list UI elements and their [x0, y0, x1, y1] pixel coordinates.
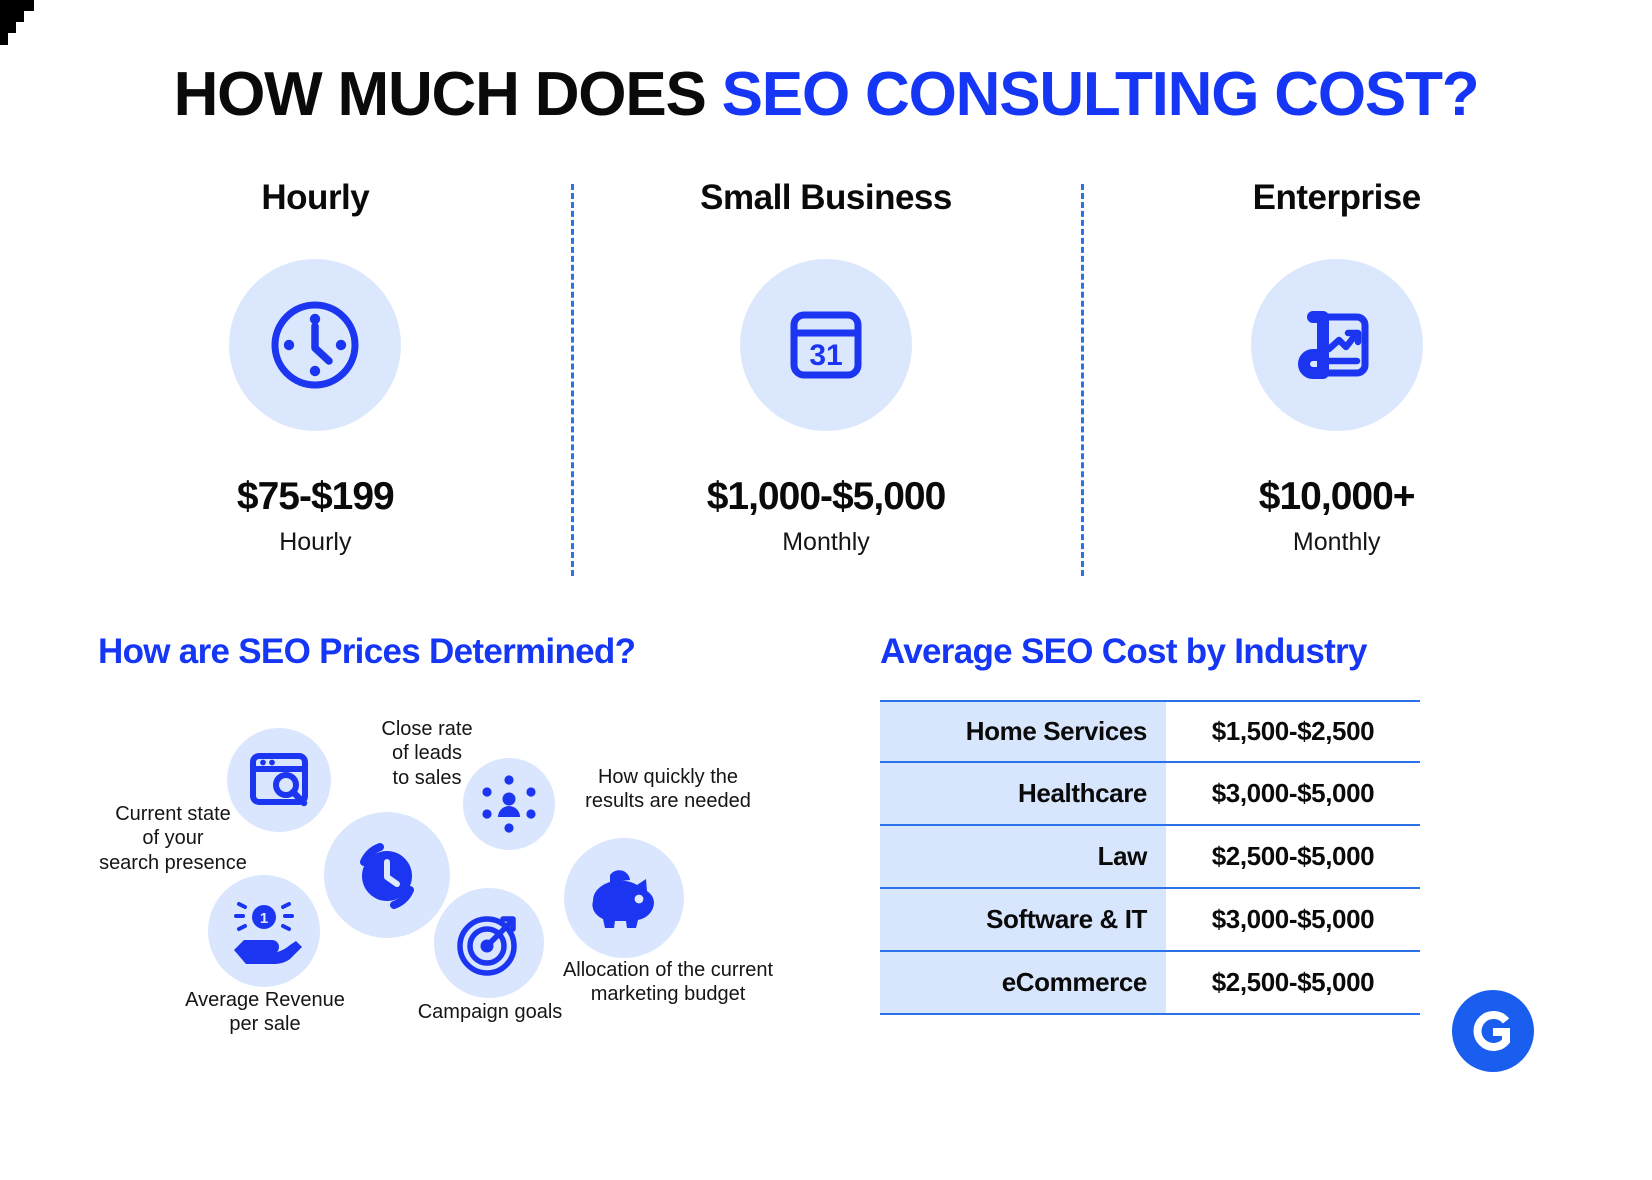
infographic-canvas: HOW MUCH DOES SEO CONSULTING COST? Hourl… — [0, 0, 1652, 1180]
industry-table-heading: Average SEO Cost by Industry — [880, 632, 1367, 672]
tier-divider-1 — [571, 184, 574, 576]
page-title-black: HOW MUCH DOES — [174, 60, 706, 129]
pricing-tiers: Hourly $75-$199 Hourly Small Business — [60, 178, 1592, 578]
corner-artifact — [0, 0, 46, 46]
table-cell-cost: $3,000-$5,000 — [1166, 763, 1420, 824]
table-cell-cost: $2,500-$5,000 — [1166, 952, 1420, 1013]
factor-caption-results-speed: How quickly the results are needed — [553, 765, 783, 814]
table-row: eCommerce $2,500-$5,000 — [880, 952, 1420, 1015]
table-cell-cost: $2,500-$5,000 — [1166, 826, 1420, 887]
factor-bubble-campaign-goals — [434, 888, 544, 998]
tier-period: Monthly — [571, 528, 1082, 557]
piggy-bank-icon — [583, 857, 665, 939]
tier-icon-badge — [1251, 259, 1423, 431]
tier-period: Hourly — [60, 528, 571, 557]
report-chart-icon — [1285, 293, 1389, 397]
tier-divider-2 — [1081, 184, 1084, 576]
tier-title: Hourly — [60, 178, 571, 218]
table-cell-industry: Law — [880, 826, 1166, 887]
tier-price: $1,000-$5,000 — [571, 475, 1082, 519]
tier-period: Monthly — [1081, 528, 1592, 557]
table-cell-industry: eCommerce — [880, 952, 1166, 1013]
calendar-day-label: 31 — [809, 339, 842, 372]
table-cell-cost: $3,000-$5,000 — [1166, 889, 1420, 950]
clock-arcs-icon — [344, 832, 430, 918]
factor-bubble-results-speed — [463, 758, 555, 850]
tier-icon-badge: 31 — [740, 259, 912, 431]
factors-heading: How are SEO Prices Determined? — [98, 632, 635, 672]
table-row: Law $2,500-$5,000 — [880, 826, 1420, 889]
page-title: HOW MUCH DOES SEO CONSULTING COST? — [0, 62, 1652, 127]
tier-title: Small Business — [571, 178, 1082, 218]
tier-price: $10,000+ — [1081, 475, 1592, 519]
factor-caption-avg-revenue: Average Revenue per sale — [155, 988, 375, 1037]
factor-caption-budget: Allocation of the current marketing budg… — [538, 958, 798, 1007]
table-cell-industry: Software & IT — [880, 889, 1166, 950]
table-row: Healthcare $3,000-$5,000 — [880, 763, 1420, 826]
pricing-factors-cluster: Current state of your search presence Cl… — [60, 700, 860, 1120]
table-cell-cost: $1,500-$2,500 — [1166, 702, 1420, 761]
brand-logo[interactable] — [1452, 990, 1534, 1072]
industry-cost-table: Home Services $1,500-$2,500 Healthcare $… — [880, 700, 1420, 1015]
tier-card-small-business: Small Business 31 $1,000-$5,000 Monthly — [571, 178, 1082, 578]
table-row: Software & IT $3,000-$5,000 — [880, 889, 1420, 952]
network-person-icon — [478, 773, 540, 835]
target-arrow-icon — [453, 907, 525, 979]
logo-c-icon — [1468, 1006, 1518, 1056]
table-cell-industry: Home Services — [880, 702, 1166, 761]
tier-title: Enterprise — [1081, 178, 1592, 218]
tier-card-hourly: Hourly $75-$199 Hourly — [60, 178, 571, 578]
tier-card-enterprise: Enterprise $10,000+ Monthly — [1081, 178, 1592, 578]
tier-price: $75-$199 — [60, 475, 571, 519]
svg-text:1: 1 — [260, 910, 268, 927]
factor-bubble-budget — [564, 838, 684, 958]
hand-coin-icon: 1 — [226, 893, 302, 969]
factor-caption-search-presence: Current state of your search presence — [73, 802, 273, 875]
factor-bubble-close-rate — [324, 812, 450, 938]
calendar-icon: 31 — [774, 293, 878, 397]
page-title-blue: SEO CONSULTING COST? — [722, 60, 1479, 129]
clock-icon — [263, 293, 367, 397]
factor-bubble-avg-revenue: 1 — [208, 875, 320, 987]
table-row: Home Services $1,500-$2,500 — [880, 700, 1420, 763]
tier-icon-badge — [229, 259, 401, 431]
table-cell-industry: Healthcare — [880, 763, 1166, 824]
